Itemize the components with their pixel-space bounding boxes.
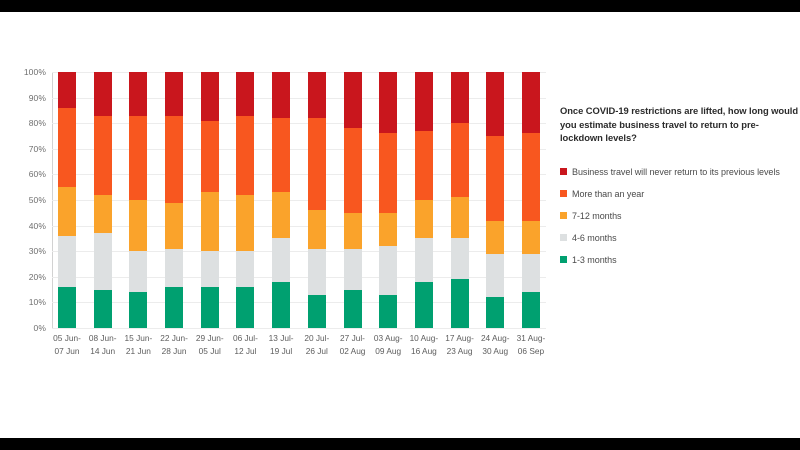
x-axis-tick-label: 06 Jul-12 Jul — [230, 332, 260, 358]
bar-segment[interactable] — [129, 116, 147, 200]
x-axis-tick-label-line: 31 Aug- — [516, 332, 546, 345]
bar-segment[interactable] — [58, 187, 76, 236]
bar-column[interactable] — [58, 72, 76, 328]
legend-swatch-icon — [560, 212, 567, 219]
bar-column[interactable] — [201, 72, 219, 328]
x-axis-tick-label-line: 12 Jul — [230, 345, 260, 358]
chart-question-title: Once COVID-19 restrictions are lifted, h… — [560, 104, 798, 145]
bar-segment[interactable] — [415, 131, 433, 200]
bar-column[interactable] — [236, 72, 254, 328]
chart-page: 100%90%80%70%60%50%40%30%20%10%0% 05 Jun… — [0, 0, 800, 450]
legend-item-label: More than an year — [572, 189, 644, 199]
x-axis-tick-label: 15 Jun-21 Jun — [123, 332, 153, 358]
bar-column[interactable] — [94, 72, 112, 328]
x-axis-tick-label: 10 Aug-16 Aug — [409, 332, 439, 358]
x-axis-tick-label-line: 26 Jul — [302, 345, 332, 358]
legend-item[interactable]: 7-12 months — [560, 206, 798, 226]
bar-segment[interactable] — [201, 192, 219, 251]
x-axis-tick-label: 22 Jun-28 Jun — [159, 332, 189, 358]
bar-segment[interactable] — [201, 251, 219, 287]
bar-segment[interactable] — [201, 72, 219, 121]
bar-segment[interactable] — [415, 282, 433, 328]
bar-column[interactable] — [415, 72, 433, 328]
x-axis-tick-label-line: 24 Aug- — [480, 332, 510, 345]
x-axis-tick-label-line: 30 Aug — [480, 345, 510, 358]
x-axis-tick-label: 03 Aug-09 Aug — [373, 332, 403, 358]
bar-segment[interactable] — [236, 251, 254, 287]
y-axis-tick-label: 10% — [29, 297, 46, 307]
y-axis-tick-label: 50% — [29, 195, 46, 205]
bar-column[interactable] — [272, 72, 290, 328]
bar-segment[interactable] — [451, 279, 469, 328]
legend-item-label: 4-6 months — [572, 233, 617, 243]
y-axis: 100%90%80%70%60%50%40%30%20%10%0% — [0, 72, 50, 328]
bar-segment[interactable] — [129, 251, 147, 292]
x-axis-tick-label-line: 21 Jun — [123, 345, 153, 358]
x-axis-tick-label: 13 Jul-19 Jul — [266, 332, 296, 358]
bar-segment[interactable] — [272, 118, 290, 192]
bar-segment[interactable] — [58, 108, 76, 187]
bar-segment[interactable] — [94, 290, 112, 328]
y-axis-tick-label: 0% — [34, 323, 47, 333]
bar-segment[interactable] — [344, 213, 362, 249]
x-axis-tick-label-line: 22 Jun- — [159, 332, 189, 345]
bar-column[interactable] — [308, 72, 326, 328]
x-axis-tick-label-line: 09 Aug — [373, 345, 403, 358]
bar-segment[interactable] — [308, 118, 326, 210]
x-axis-tick-label-line: 16 Aug — [409, 345, 439, 358]
bar-segment[interactable] — [308, 295, 326, 328]
bar-segment[interactable] — [201, 121, 219, 193]
bar-segment[interactable] — [236, 116, 254, 195]
bar-column[interactable] — [129, 72, 147, 328]
bar-segment[interactable] — [94, 233, 112, 289]
y-axis-tick-label: 80% — [29, 118, 46, 128]
bar-segment[interactable] — [522, 254, 540, 292]
bar-segment[interactable] — [236, 287, 254, 328]
x-axis-tick-label: 27 Jul-02 Aug — [338, 332, 368, 358]
legend-item[interactable]: 1-3 months — [560, 250, 798, 270]
x-axis-tick-label: 20 Jul-26 Jul — [302, 332, 332, 358]
legend-swatch-icon — [560, 168, 567, 175]
bar-segment[interactable] — [379, 295, 397, 328]
x-axis-tick-label-line: 05 Jul — [195, 345, 225, 358]
bar-segment[interactable] — [165, 203, 183, 249]
x-axis-tick-label-line: 27 Jul- — [338, 332, 368, 345]
bar-segment[interactable] — [308, 72, 326, 118]
x-axis-tick-label-line: 28 Jun — [159, 345, 189, 358]
bar-segment[interactable] — [236, 72, 254, 116]
x-axis-tick-label: 24 Aug-30 Aug — [480, 332, 510, 358]
letterbox-top — [0, 0, 800, 12]
bar-segment[interactable] — [58, 72, 76, 108]
y-axis-tick-label: 40% — [29, 221, 46, 231]
x-axis: 05 Jun-07 Jun08 Jun-14 Jun15 Jun-21 Jun2… — [52, 332, 546, 358]
x-axis-tick-label-line: 19 Jul — [266, 345, 296, 358]
x-axis-tick-label: 08 Jun-14 Jun — [88, 332, 118, 358]
bar-segment[interactable] — [272, 192, 290, 238]
bar-segment[interactable] — [308, 249, 326, 295]
bar-series-group — [52, 72, 546, 328]
x-axis-tick-label-line: 08 Jun- — [88, 332, 118, 345]
legend-item-label: 7-12 months — [572, 211, 621, 221]
bar-segment[interactable] — [94, 195, 112, 233]
bar-column[interactable] — [379, 72, 397, 328]
bar-segment[interactable] — [272, 282, 290, 328]
bar-segment[interactable] — [486, 136, 504, 220]
bar-segment[interactable] — [58, 287, 76, 328]
bar-segment[interactable] — [129, 292, 147, 328]
y-axis-tick-label: 20% — [29, 272, 46, 282]
bar-segment[interactable] — [165, 249, 183, 287]
bar-segment[interactable] — [451, 197, 469, 238]
bar-segment[interactable] — [522, 133, 540, 220]
legend-item-label: Business travel will never return to its… — [572, 167, 780, 177]
bar-segment[interactable] — [344, 72, 362, 128]
bar-segment[interactable] — [451, 238, 469, 279]
x-axis-tick-label-line: 29 Jun- — [195, 332, 225, 345]
bar-segment[interactable] — [129, 72, 147, 116]
x-axis-tick-label: 29 Jun-05 Jul — [195, 332, 225, 358]
bar-segment[interactable] — [272, 238, 290, 282]
bar-segment[interactable] — [308, 210, 326, 248]
bar-segment[interactable] — [344, 249, 362, 290]
x-axis-tick-label-line: 07 Jun — [52, 345, 82, 358]
y-axis-tick-label: 70% — [29, 144, 46, 154]
bar-column[interactable] — [451, 72, 469, 328]
x-axis-tick-label: 17 Aug-23 Aug — [445, 332, 475, 358]
legend-panel: Once COVID-19 restrictions are lifted, h… — [560, 104, 798, 272]
x-axis-tick-label-line: 10 Aug- — [409, 332, 439, 345]
bar-segment[interactable] — [236, 195, 254, 251]
bar-segment[interactable] — [451, 72, 469, 123]
x-axis-tick-label-line: 06 Sep — [516, 345, 546, 358]
bar-segment[interactable] — [486, 221, 504, 254]
bar-column[interactable] — [165, 72, 183, 328]
x-axis-tick-label-line: 15 Jun- — [123, 332, 153, 345]
bar-segment[interactable] — [94, 116, 112, 195]
bar-segment[interactable] — [379, 246, 397, 295]
x-axis-tick-label-line: 20 Jul- — [302, 332, 332, 345]
x-axis-tick-label-line: 03 Aug- — [373, 332, 403, 345]
bar-segment[interactable] — [522, 292, 540, 328]
legend-swatch-icon — [560, 234, 567, 241]
bar-segment[interactable] — [415, 238, 433, 282]
legend-swatch-icon — [560, 256, 567, 263]
y-axis-tick-label: 90% — [29, 93, 46, 103]
bar-segment[interactable] — [165, 72, 183, 116]
bar-segment[interactable] — [415, 72, 433, 131]
x-axis-tick-label: 31 Aug-06 Sep — [516, 332, 546, 358]
bar-segment[interactable] — [379, 133, 397, 212]
legend-item-label: 1-3 months — [572, 255, 617, 265]
bar-segment[interactable] — [486, 72, 504, 136]
bar-segment[interactable] — [451, 123, 469, 197]
y-axis-tick-label: 100% — [24, 67, 46, 77]
x-axis-tick-label-line: 23 Aug — [445, 345, 475, 358]
bar-segment[interactable] — [272, 72, 290, 118]
gridline — [52, 328, 546, 329]
bar-segment[interactable] — [344, 290, 362, 328]
legend-item[interactable]: More than an year — [560, 184, 798, 204]
bar-segment[interactable] — [58, 236, 76, 287]
bar-segment[interactable] — [486, 254, 504, 298]
x-axis-tick-label-line: 13 Jul- — [266, 332, 296, 345]
bar-segment[interactable] — [201, 287, 219, 328]
stacked-bar-chart: 100%90%80%70%60%50%40%30%20%10%0% 05 Jun… — [0, 60, 556, 390]
legend-swatch-icon — [560, 190, 567, 197]
bar-segment[interactable] — [129, 200, 147, 251]
bar-column[interactable] — [486, 72, 504, 328]
x-axis-tick-label-line: 05 Jun- — [52, 332, 82, 345]
legend-item[interactable]: Business travel will never return to its… — [560, 162, 798, 182]
x-axis-tick-label-line: 14 Jun — [88, 345, 118, 358]
y-axis-tick-label: 30% — [29, 246, 46, 256]
bar-segment[interactable] — [379, 72, 397, 133]
x-axis-tick-label-line: 17 Aug- — [445, 332, 475, 345]
bar-column[interactable] — [344, 72, 362, 328]
bar-segment[interactable] — [379, 213, 397, 246]
bar-segment[interactable] — [165, 287, 183, 328]
bar-segment[interactable] — [165, 116, 183, 203]
x-axis-tick-label-line: 06 Jul- — [230, 332, 260, 345]
legend-item[interactable]: 4-6 months — [560, 228, 798, 248]
x-axis-tick-label: 05 Jun-07 Jun — [52, 332, 82, 358]
bar-segment[interactable] — [522, 221, 540, 254]
plot-area — [52, 72, 546, 328]
y-axis-tick-label: 60% — [29, 169, 46, 179]
bar-segment[interactable] — [94, 72, 112, 116]
bar-segment[interactable] — [486, 297, 504, 328]
bar-segment[interactable] — [344, 128, 362, 212]
legend: Business travel will never return to its… — [560, 162, 798, 270]
x-axis-tick-label-line: 02 Aug — [338, 345, 368, 358]
bar-segment[interactable] — [415, 200, 433, 238]
letterbox-bottom — [0, 438, 800, 450]
bar-segment[interactable] — [522, 72, 540, 133]
bar-column[interactable] — [522, 72, 540, 328]
